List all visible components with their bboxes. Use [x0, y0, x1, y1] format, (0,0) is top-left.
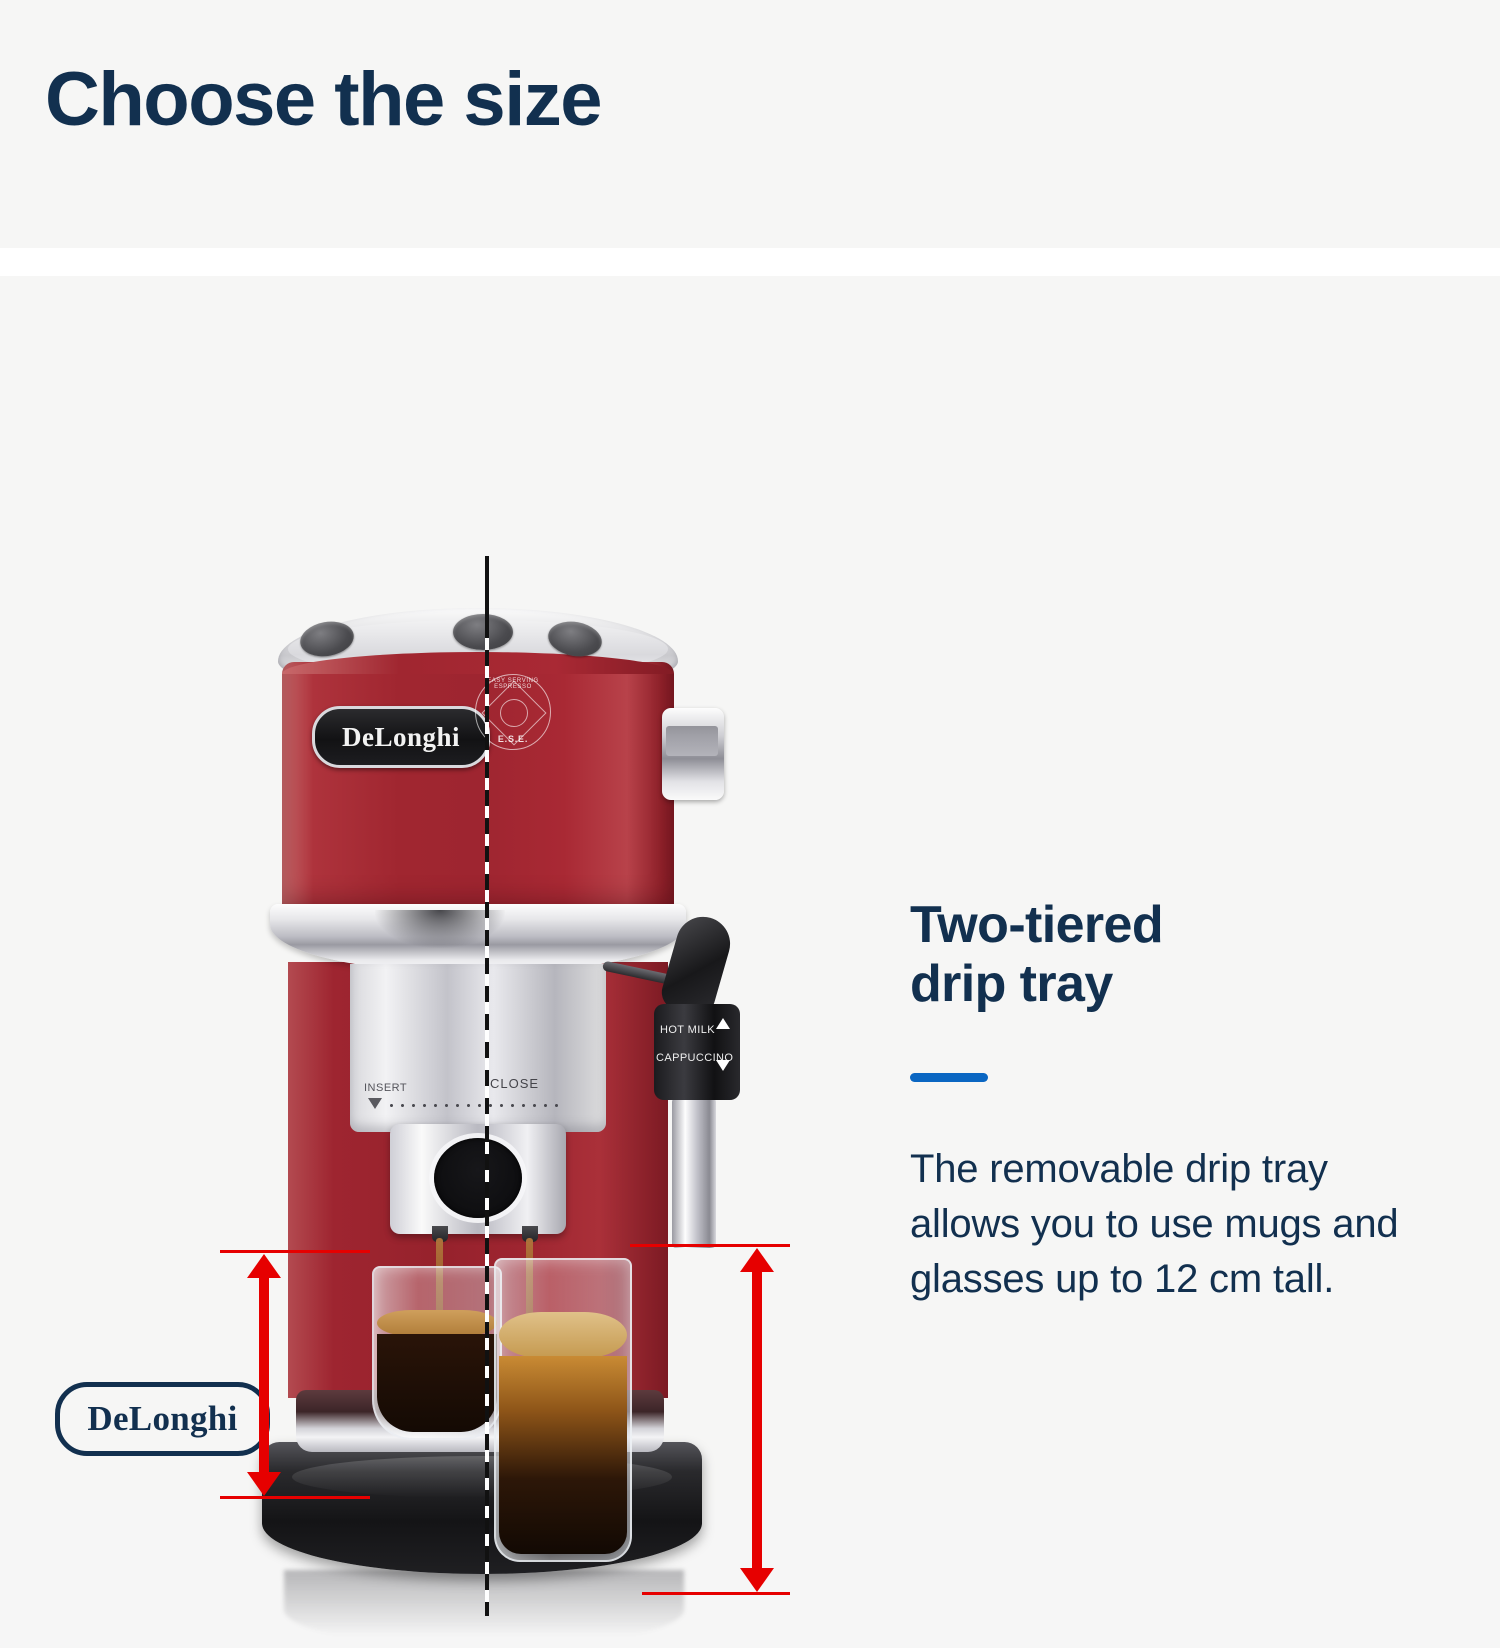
measure-tick-top — [220, 1250, 370, 1253]
insert-triangle-icon — [368, 1098, 382, 1109]
page-root: Choose the size DeLonghi EASY SERVING ES… — [0, 0, 1500, 1500]
measure-tick-bottom — [220, 1496, 370, 1499]
info-heading: Two-tiered drip tray — [910, 896, 1430, 1015]
espresso-cup-upper-tier — [372, 1266, 502, 1440]
header-divider — [0, 248, 1500, 276]
info-heading-line1: Two-tiered — [910, 896, 1163, 954]
measure-shaft — [752, 1268, 762, 1570]
brand-logo-label: DeLonghi — [87, 1399, 237, 1439]
measure-arrowhead-down — [247, 1472, 281, 1496]
tall-glass-lower-tier — [494, 1258, 632, 1562]
info-heading-line2: drip tray — [910, 955, 1113, 1013]
page-title: Choose the size — [45, 62, 601, 138]
product-reflection — [284, 1570, 684, 1648]
machine-brand-badge: DeLonghi — [312, 706, 490, 768]
steam-wand-tube — [672, 1098, 716, 1248]
accent-rule — [910, 1073, 988, 1082]
ese-circle-shape — [500, 699, 528, 727]
measurement-upper-tier — [220, 1250, 370, 1500]
coffee-liquid — [499, 1356, 627, 1554]
control-button-center[interactable] — [453, 614, 513, 650]
close-label: CLOSE — [490, 1076, 539, 1091]
split-comparison-line — [485, 566, 489, 1616]
measurement-lower-tier — [630, 1244, 790, 1596]
hot-milk-label: HOT MILK — [660, 1024, 715, 1036]
split-comparison-line-top — [485, 556, 489, 634]
measure-tick-top — [630, 1244, 790, 1247]
insert-label: INSERT — [364, 1082, 407, 1094]
portafilter — [390, 1124, 566, 1234]
coffee-liquid — [377, 1334, 497, 1432]
steam-wand-selector[interactable]: HOT MILK CAPPUCCINO — [654, 1004, 740, 1100]
arrow-up-icon — [716, 1018, 730, 1029]
measure-arrowhead-down — [740, 1568, 774, 1592]
measure-tick-bottom — [642, 1592, 790, 1595]
brew-group: INSERT CLOSE — [350, 964, 606, 1132]
content-band: DeLonghi EASY SERVING ESPRESSO E.S.E. IN… — [0, 276, 1500, 1500]
info-panel: Two-tiered drip tray The removable drip … — [910, 896, 1430, 1347]
crema-layer — [499, 1312, 627, 1358]
steam-control-knob[interactable] — [662, 708, 724, 800]
info-body-text: The removable drip tray allows you to us… — [910, 1142, 1430, 1308]
arrow-down-icon — [716, 1060, 730, 1071]
measure-shaft — [259, 1274, 269, 1474]
header-band: Choose the size — [0, 0, 1500, 248]
crema-layer — [377, 1310, 497, 1336]
product-image: DeLonghi EASY SERVING ESPRESSO E.S.E. IN… — [200, 566, 840, 1646]
machine-brand-badge-label: DeLonghi — [342, 722, 460, 753]
insert-dotted-arc — [386, 1104, 566, 1107]
portafilter-basket — [434, 1138, 522, 1218]
